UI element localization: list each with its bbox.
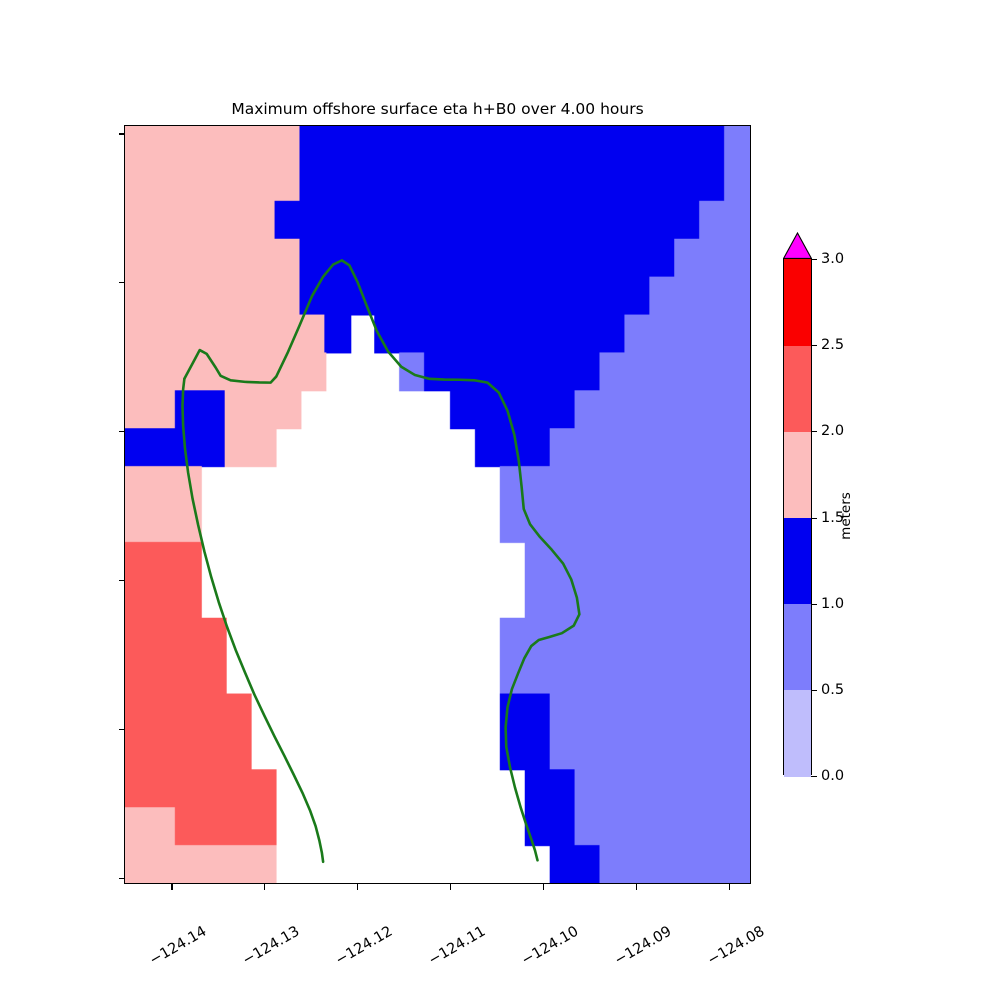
colorbar-tick-mark — [811, 431, 817, 432]
map-axes[interactable]: −124.14−124.13−124.12−124.11−124.10−124.… — [124, 125, 751, 884]
y-tick-mark — [119, 431, 126, 432]
colorbar-tick-label: 1.0 — [821, 596, 844, 612]
x-tick-mark — [171, 883, 172, 890]
colorbar-band — [784, 690, 811, 777]
colorbar-tick-mark — [811, 776, 817, 777]
x-tick-mark — [636, 883, 637, 890]
colorbar-tick-label: 2.0 — [821, 423, 844, 439]
colorbar-tick-label: 2.5 — [821, 337, 844, 353]
x-tick-label: −124.10 — [519, 923, 581, 968]
colorbar-band — [784, 259, 811, 346]
y-tick-mark — [119, 580, 126, 581]
x-tick-mark — [264, 883, 265, 890]
x-tick-label: −124.11 — [426, 923, 488, 968]
colorbar-tick-mark — [811, 604, 817, 605]
colorbar-tick-mark — [811, 259, 817, 260]
colorbar-tick-label: 3.0 — [821, 251, 844, 267]
colorbar-tick-mark — [811, 518, 817, 519]
colorbar-tick-mark — [811, 690, 817, 691]
x-tick-mark — [357, 883, 358, 890]
x-tick-label: −124.09 — [612, 923, 674, 968]
x-tick-mark — [543, 883, 544, 890]
y-tick-mark — [119, 133, 126, 134]
colorbar-band — [784, 604, 811, 691]
figure-canvas: Maximum offshore surface eta h+B0 over 4… — [0, 0, 1000, 1000]
x-tick-mark — [729, 883, 730, 890]
colorbar-band — [784, 431, 811, 518]
x-tick-label: −124.13 — [240, 923, 302, 968]
colorbar-tick-label: 0.5 — [821, 682, 844, 698]
heatmap-grid — [125, 126, 750, 883]
colorbar[interactable]: 0.00.51.01.52.02.53.0 — [783, 258, 812, 775]
colorbar-tick-mark — [811, 345, 817, 346]
x-tick-label: −124.12 — [333, 923, 395, 968]
x-tick-label: −124.08 — [705, 923, 767, 968]
colorbar-band — [784, 518, 811, 605]
colorbar-band — [784, 345, 811, 432]
plot-title: Maximum offshore surface eta h+B0 over 4… — [124, 99, 751, 119]
y-tick-mark — [119, 282, 126, 283]
y-tick-mark — [119, 878, 126, 879]
colorbar-tick-label: 0.0 — [821, 768, 844, 784]
x-tick-mark — [450, 883, 451, 890]
y-tick-mark — [119, 729, 126, 730]
x-tick-label: −124.14 — [147, 923, 209, 968]
colorbar-extend-arrow — [783, 232, 812, 258]
colorbar-axis-label: meters — [838, 492, 854, 540]
